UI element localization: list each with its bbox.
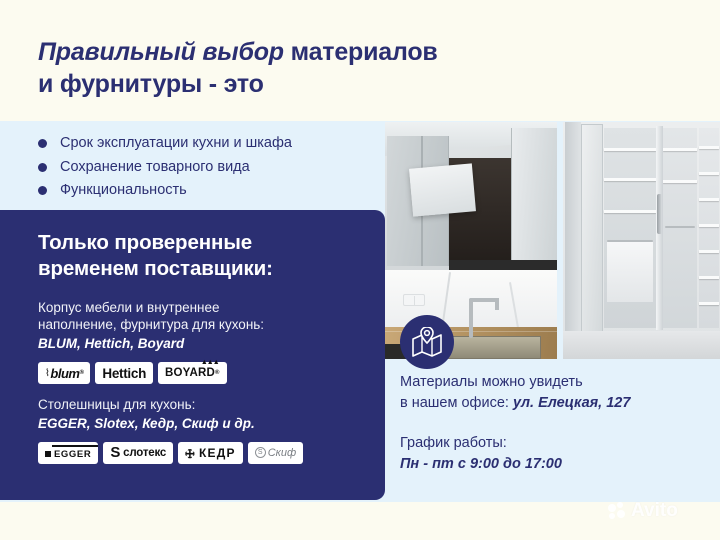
office-info-prefix: в нашем офисе: [400,395,513,411]
supplier-logo-row: ⌇blum® Hettich ▲▲▲BOYARD® [38,362,365,384]
bullet-dot-icon [38,139,47,148]
crown-icon: ▲▲▲ [201,359,219,366]
wardrobe-side-panel [565,122,581,332]
list-item: Срок эксплуатации кухни и шкафа [38,135,388,152]
wardrobe-shelf [699,302,719,305]
wardrobe-shelf [663,180,697,183]
brand-logo-hettich-label: Hettich [102,366,146,381]
suppliers-description: Корпус мебели и внутреннее наполнение, ф… [38,299,365,353]
wardrobe-shelf [604,148,656,151]
wardrobe-shelf [604,210,656,213]
wardrobe-door-left [581,124,603,332]
headline-accent: Правильный выбор [38,38,284,66]
kitchen-lift-door [409,163,476,216]
countertops-brand-names: EGGER, Slotex, Кедр, Скиф и др. [38,415,365,433]
wardrobe-shelf [699,172,719,175]
avito-watermark: Avito [608,500,678,522]
brand-logo-boyard: ▲▲▲BOYARD® [158,362,227,384]
registered-icon: ® [215,370,220,376]
bullet-dot-icon [38,163,47,172]
wardrobe-shelf [699,146,719,149]
avito-logo-icon [608,502,628,520]
office-info: Материалы можно увидеть в нашем офисе: у… [400,372,700,413]
avito-watermark-label: Avito [631,500,678,522]
egger-bar-icon [52,445,98,448]
list-item-label: Срок эксплуатации кухни и шкафа [60,135,292,152]
brand-logo-kedr: 🜊КЕДР [178,442,243,464]
countertop-logo-row: EGGER Sслотекс 🜊КЕДР SСкиф [38,442,365,464]
brand-logo-skif: SСкиф [248,442,303,464]
kitchen-cabinet-right [511,128,557,268]
suppliers-label-line1: Корпус мебели и внутреннее [38,300,220,315]
wardrobe-shelf [663,148,697,151]
wardrobe-floor [563,331,720,359]
wardrobe-shelf [699,250,719,253]
map-pin-icon [411,327,443,357]
office-info-line2: в нашем офисе: ул. Елецкая, 127 [400,393,700,414]
panel-title-line1: Только проверенные [38,231,252,254]
suppliers-brand-names: BLUM, Hettich, Boyard [38,335,365,353]
office-info-line1: Материалы можно увидеть [400,372,700,393]
poster-canvas: Правильный выбор материалов и фурнитуры … [0,0,720,540]
wardrobe-shelf [699,224,719,227]
kitchen-cabinet-underside [449,260,557,270]
countertops-description: Столешницы для кухонь: EGGER, Slotex, Ке… [38,396,365,433]
list-item-label: Функциональность [60,182,187,199]
brand-logo-blum-label: blum [50,366,79,381]
brand-logo-kedr-label: КЕДР [199,446,236,460]
brand-logo-hettich: Hettich [95,362,153,384]
list-item-label: Сохранение товарного вида [60,159,250,176]
egger-square-icon [45,451,51,457]
headline-rest: материалов [284,38,438,66]
kitchen-faucet-spout [469,298,499,302]
suppliers-label-line2: наполнение, фурнитура для кухонь: [38,317,264,332]
wardrobe-shelf [604,178,656,181]
kitchen-power-socket [403,294,425,306]
page-title: Правильный выбор материалов и фурнитуры … [38,36,638,100]
skif-s-circle-icon: S [255,447,266,458]
slotex-s-icon: S [110,444,120,461]
wardrobe-shelf [699,276,719,279]
brand-logo-boyard-label: BOYARD [165,367,215,379]
blum-mark-icon: ⌇ [45,368,49,379]
suppliers-panel: Только проверенные временем поставщики: … [0,210,385,500]
wardrobe-cavity-mid [663,128,697,328]
bullet-dot-icon [38,186,47,195]
working-hours-block: График работы: Пн - пт с 9:00 до 17:00 [400,433,700,474]
brand-logo-egger: EGGER [38,442,98,464]
office-address: ул. Елецкая, 127 [513,395,630,411]
countertops-label: Столешницы для кухонь: [38,397,195,412]
wardrobe-hanging-rod [665,226,695,228]
brand-logo-egger-label: EGGER [54,449,91,460]
working-hours-value: Пн - пт с 9:00 до 17:00 [400,454,700,475]
list-item: Сохранение товарного вида [38,159,388,176]
brand-logo-slotex: Sслотекс [103,442,173,464]
brand-logo-blum: ⌇blum® [38,362,90,384]
kitchen-faucet [469,298,473,338]
brand-logo-slotex-label: слотекс [123,447,166,459]
wardrobe-photo [563,122,720,359]
headline-line2: и фурнитуры - это [38,70,264,98]
wardrobe-cavity-right [699,128,719,328]
map-location-badge [400,315,454,369]
registered-icon: ® [79,370,83,376]
wardrobe-drawer-box [607,242,653,302]
panel-title: Только проверенные временем поставщики: [38,230,365,282]
working-hours-info: График работы: Пн - пт с 9:00 до 17:00 [400,433,700,474]
wardrobe-shelf [699,198,719,201]
panel-title-line2: временем поставщики: [38,257,273,280]
working-hours-label: График работы: [400,435,507,451]
wardrobe-handle [657,194,662,234]
benefits-list: Срок эксплуатации кухни и шкафа Сохранен… [38,135,388,206]
list-item: Функциональность [38,182,388,199]
kedr-tree-icon: 🜊 [185,440,196,465]
brand-logo-skif-label: Скиф [268,447,296,459]
